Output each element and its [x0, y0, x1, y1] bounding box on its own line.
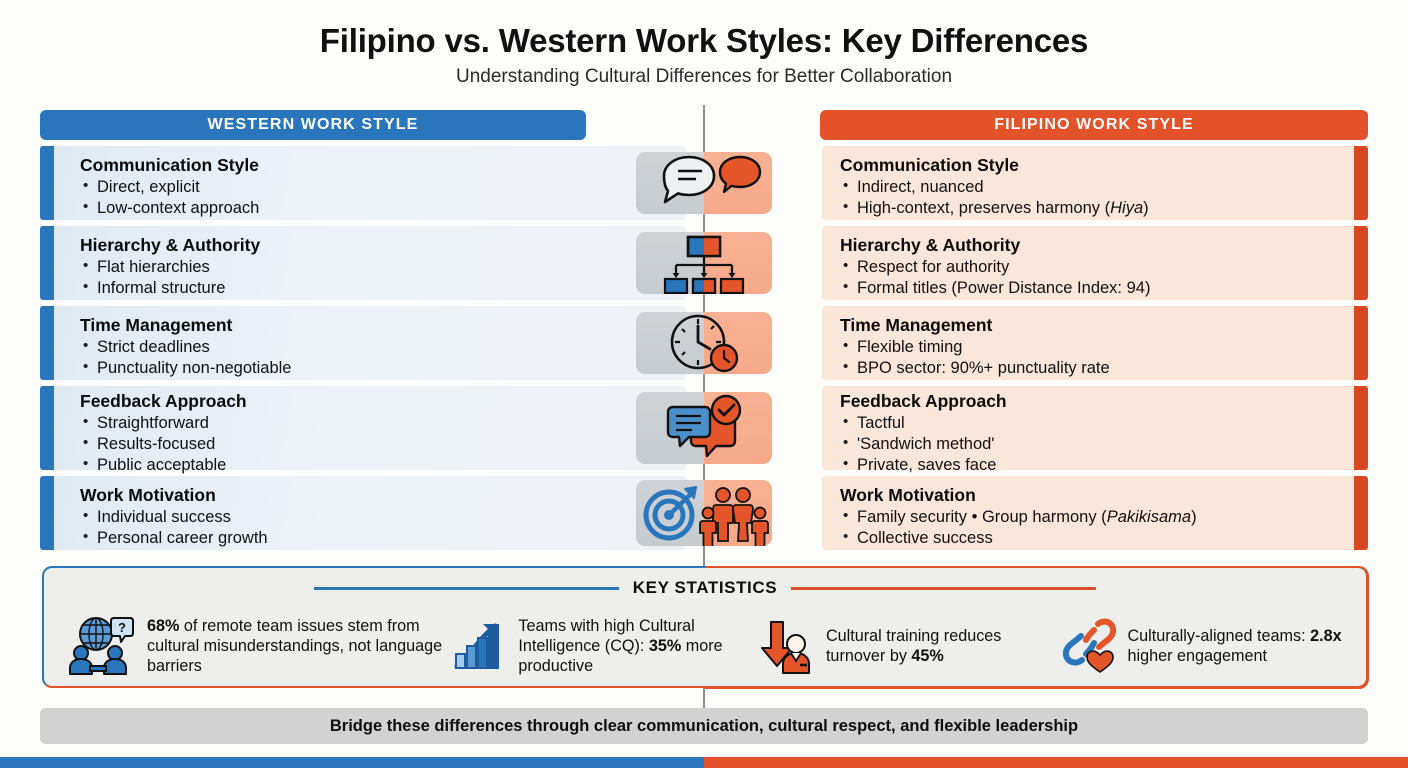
- bullet-item: Strict deadlines: [80, 337, 291, 358]
- bullet-item: 'Sandwich method': [840, 434, 1007, 455]
- bullet-item: Individual success: [80, 507, 268, 528]
- bullet-item: Flat hierarchies: [80, 257, 260, 278]
- svg-text:?: ?: [118, 620, 126, 635]
- comparison-row: Communication Style Direct, explicit Low…: [0, 146, 1408, 220]
- stat-item: ? 68% of remote team issues stem from cu…: [44, 608, 447, 686]
- bullet-list: Strict deadlines Punctuality non-negotia…: [80, 337, 291, 379]
- bullet-item: Respect for authority: [840, 257, 1150, 278]
- category-title: Feedback Approach: [80, 391, 247, 412]
- stat-value: 45%: [911, 647, 943, 665]
- stat-item: Culturally-aligned teams: 2.8x higher en…: [1056, 608, 1366, 686]
- bullet-item: Punctuality non-negotiable: [80, 358, 291, 379]
- divider-rule-orange: [791, 587, 1096, 590]
- western-content: Work Motivation Individual success Perso…: [80, 485, 268, 549]
- western-content: Feedback Approach Straightforward Result…: [80, 391, 247, 476]
- key-statistics-items: ? 68% of remote team issues stem from cu…: [44, 608, 1366, 686]
- bullet-item: Direct, explicit: [80, 177, 259, 198]
- filipino-content: Time Management Flexible timing BPO sect…: [840, 315, 1110, 379]
- growth-chart-icon: [451, 616, 509, 679]
- western-accent-bar: [40, 386, 54, 470]
- bullet-list: Flexible timing BPO sector: 90%+ punctua…: [840, 337, 1110, 379]
- clock-icon: [636, 312, 772, 374]
- bullet-item: Public acceptable: [80, 455, 247, 476]
- footer-banner: Bridge these differences through clear c…: [40, 708, 1368, 744]
- category-title: Feedback Approach: [840, 391, 1007, 412]
- bottom-stripe-filipino: [704, 757, 1408, 768]
- stat-text: Culturally-aligned teams: 2.8x higher en…: [1127, 627, 1362, 667]
- category-title: Time Management: [80, 315, 291, 336]
- key-statistics-label: KEY STATISTICS: [633, 578, 777, 598]
- category-title: Communication Style: [80, 155, 259, 176]
- filipino-accent-bar: [1354, 386, 1368, 470]
- category-title: Work Motivation: [840, 485, 1197, 506]
- speech-bubbles-icon: [636, 152, 772, 214]
- bullet-list: Indirect, nuanced High-context, preserve…: [840, 177, 1149, 219]
- comparison-row: Work Motivation Individual success Perso…: [0, 476, 1408, 550]
- bullet-item: High-context, preserves harmony (Hiya): [840, 198, 1149, 219]
- org-chart-icon: [636, 232, 772, 294]
- western-accent-bar: [40, 226, 54, 300]
- bullet-item: Flexible timing: [840, 337, 1110, 358]
- bullet-item: Results-focused: [80, 434, 247, 455]
- western-accent-bar: [40, 476, 54, 550]
- turnover-down-icon: [761, 616, 817, 679]
- filipino-content: Hierarchy & Authority Respect for author…: [840, 235, 1150, 299]
- bullet-item: Indirect, nuanced: [840, 177, 1149, 198]
- bullet-item: Tactful: [840, 413, 1007, 434]
- filipino-accent-bar: [1354, 146, 1368, 220]
- bottom-stripe-western: [0, 757, 704, 768]
- divider-rule-blue: [314, 587, 619, 590]
- stat-item: Teams with high Cultural Intelligence (C…: [447, 608, 757, 686]
- key-statistics-header: KEY STATISTICS: [44, 578, 1366, 598]
- feedback-check-icon: [636, 392, 772, 464]
- western-content: Hierarchy & Authority Flat hierarchies I…: [80, 235, 260, 299]
- chain-heart-icon: [1060, 616, 1118, 679]
- bullet-item: Formal titles (Power Distance Index: 94): [840, 278, 1150, 299]
- filipino-accent-bar: [1354, 476, 1368, 550]
- category-title: Work Motivation: [80, 485, 268, 506]
- filipino-content: Work Motivation Family security • Group …: [840, 485, 1197, 549]
- western-content: Time Management Strict deadlines Punctua…: [80, 315, 291, 379]
- bullet-list: Flat hierarchies Informal structure: [80, 257, 260, 299]
- western-accent-bar: [40, 146, 54, 220]
- western-accent-bar: [40, 306, 54, 380]
- bullet-list: Individual success Personal career growt…: [80, 507, 268, 549]
- comparison-row: Hierarchy & Authority Flat hierarchies I…: [0, 226, 1408, 300]
- comparison-row: Time Management Strict deadlines Punctua…: [0, 306, 1408, 380]
- bullet-item: Collective success: [840, 528, 1197, 549]
- comparison-row: Feedback Approach Straightforward Result…: [0, 386, 1408, 470]
- stat-text: 68% of remote team issues stem from cult…: [147, 617, 443, 676]
- globe-handshake-icon: ?: [66, 614, 138, 681]
- infographic-canvas: Filipino vs. Western Work Styles: Key Di…: [0, 0, 1408, 768]
- bullet-item: Personal career growth: [80, 528, 268, 549]
- key-statistics-box: KEY STATISTICS: [42, 566, 1368, 688]
- filipino-content: Feedback Approach Tactful 'Sandwich meth…: [840, 391, 1007, 476]
- column-header-western: WESTERN WORK STYLE: [40, 110, 586, 140]
- stat-item: Cultural training reduces turnover by 45…: [757, 608, 1057, 686]
- column-header-filipino: FILIPINO WORK STYLE: [820, 110, 1368, 140]
- page-title: Filipino vs. Western Work Styles: Key Di…: [0, 22, 1408, 60]
- page-subtitle: Understanding Cultural Differences for B…: [0, 66, 1408, 88]
- bullet-item: Private, saves face: [840, 455, 1007, 476]
- western-content: Communication Style Direct, explicit Low…: [80, 155, 259, 219]
- bullet-list: Direct, explicit Low-context approach: [80, 177, 259, 219]
- filipino-accent-bar: [1354, 226, 1368, 300]
- bullet-item: Straightforward: [80, 413, 247, 434]
- bullet-list: Tactful 'Sandwich method' Private, saves…: [840, 413, 1007, 476]
- category-title: Communication Style: [840, 155, 1149, 176]
- filipino-content: Communication Style Indirect, nuanced Hi…: [840, 155, 1149, 219]
- bullet-list: Straightforward Results-focused Public a…: [80, 413, 247, 476]
- category-title: Time Management: [840, 315, 1110, 336]
- bullet-list: Family security • Group harmony (Pakikis…: [840, 507, 1197, 549]
- target-family-icon: [636, 480, 772, 546]
- bullet-item: Family security • Group harmony (Pakikis…: [840, 507, 1197, 528]
- bullet-item: BPO sector: 90%+ punctuality rate: [840, 358, 1110, 379]
- stat-value: 35%: [649, 637, 681, 655]
- stat-text: Teams with high Cultural Intelligence (C…: [518, 617, 753, 676]
- bullet-item: Informal structure: [80, 278, 260, 299]
- stat-text: Cultural training reduces turnover by 45…: [826, 627, 1053, 667]
- bullet-item: Low-context approach: [80, 198, 259, 219]
- filipino-accent-bar: [1354, 306, 1368, 380]
- stat-value: 2.8x: [1310, 627, 1342, 645]
- bullet-list: Respect for authority Formal titles (Pow…: [840, 257, 1150, 299]
- category-title: Hierarchy & Authority: [840, 235, 1150, 256]
- stat-value: 68%: [147, 617, 179, 635]
- category-title: Hierarchy & Authority: [80, 235, 260, 256]
